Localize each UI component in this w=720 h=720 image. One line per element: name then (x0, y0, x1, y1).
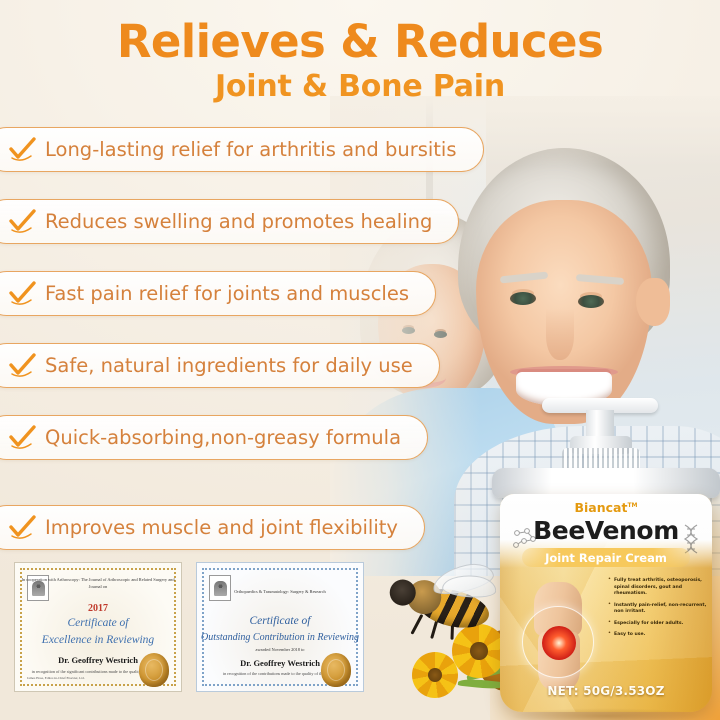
certificates-group: In cooperation with Arthroscopy: The Jou… (14, 562, 364, 692)
man-nose (546, 308, 574, 360)
check-icon (7, 136, 37, 164)
certificate-title: Certificate of Excellence in Reviewing (15, 615, 181, 650)
check-icon (7, 514, 37, 542)
benefit-pill-4: Safe, natural ingredients for daily use (0, 343, 440, 388)
advertisement-canvas: Relieves & Reduces Joint & Bone Pain Lon… (0, 0, 720, 720)
certificate-preamble: In cooperation with Arthroscopy: The Jou… (15, 577, 181, 591)
benefit-label: Reduces swelling and promotes healing (45, 210, 432, 233)
certificate-title-line2: Excellence in Reviewing (15, 632, 181, 649)
product-name: BeeVenom (500, 516, 712, 545)
product-claim: Instantly pain-relief, non-recurrent, no… (608, 603, 708, 616)
product-claim: Fully treat arthritis, osteoporosis, spi… (608, 578, 708, 598)
benefit-label: Long-lasting relief for arthritis and bu… (45, 138, 457, 161)
knee-joint-pain-graphic (516, 582, 600, 690)
check-icon (7, 280, 37, 308)
product-claims-list: Fully treat arthritis, osteoporosis, spi… (608, 578, 708, 644)
certificate-year: 2017 (15, 603, 181, 614)
certificate-title: Certificate of Outstanding Contribution … (197, 613, 363, 645)
benefit-label: Quick-absorbing,non-greasy formula (45, 426, 401, 449)
headline-block: Relieves & Reduces Joint & Bone Pain (0, 18, 720, 104)
knee-glow-ring (522, 606, 594, 678)
product-claim: Easy to use. (608, 632, 708, 639)
brand-text: Biancat (574, 500, 627, 515)
headline-primary: Relieves & Reduces (0, 18, 720, 65)
certificate-outstanding: Orthopaedics & Traumatology: Surgery & R… (196, 562, 364, 692)
pump-dispenser (564, 392, 636, 466)
certificate-seal (139, 653, 169, 687)
product-subtitle-band: Joint Repair Cream (522, 548, 690, 567)
benefit-label: Safe, natural ingredients for daily use (45, 354, 413, 377)
jar-label: BiancatTM BeeVenom Joint Repair Cream Fu… (500, 494, 712, 712)
certificate-signature: James Hose, Editor-in-Chief Elsevier, Lt… (27, 676, 85, 681)
certificate-excellence: In cooperation with Arthroscopy: The Jou… (14, 562, 182, 692)
benefit-pill-3: Fast pain relief for joints and muscles (0, 271, 436, 316)
honeybee-icon (380, 557, 505, 653)
benefit-pill-6: Improves muscle and joint flexibility (0, 505, 425, 550)
check-icon (7, 208, 37, 236)
product-subtitle: Joint Repair Cream (545, 551, 667, 565)
certificate-title-line1: Certificate of (197, 613, 363, 630)
man-eye-right (578, 295, 604, 308)
brand-name: BiancatTM (500, 500, 712, 515)
certificate-journal: Orthopaedics & Traumatology: Surgery & R… (197, 589, 363, 594)
certificate-seal (321, 653, 351, 687)
certificate-title-line2: Outstanding Contribution in Reviewing (197, 630, 363, 645)
check-icon (7, 424, 37, 452)
man-ear (636, 278, 670, 326)
benefit-label: Improves muscle and joint flexibility (45, 516, 398, 539)
certificate-award-date: awarded November 2018 to (197, 647, 363, 652)
elsevier-logo-icon (209, 575, 231, 601)
benefit-pill-5: Quick-absorbing,non-greasy formula (0, 415, 428, 460)
benefit-pill-2: Reduces swelling and promotes healing (0, 199, 459, 244)
trademark-symbol: TM (627, 502, 637, 509)
net-weight: NET: 50G/3.53OZ (500, 684, 712, 698)
man-eye-left (510, 292, 536, 305)
check-icon (7, 352, 37, 380)
certificate-title-line1: Certificate of (15, 615, 181, 632)
product-jar: BiancatTM BeeVenom Joint Repair Cream Fu… (492, 392, 720, 720)
benefit-pill-1: Long-lasting relief for arthritis and bu… (0, 127, 484, 172)
product-claim: Especially for older adults. (608, 621, 708, 628)
jar-shadow (510, 708, 702, 720)
bee-leg (410, 614, 423, 635)
headline-secondary: Joint & Bone Pain (0, 69, 720, 104)
sunflower-icon (412, 652, 458, 698)
benefit-label: Fast pain relief for joints and muscles (45, 282, 409, 305)
